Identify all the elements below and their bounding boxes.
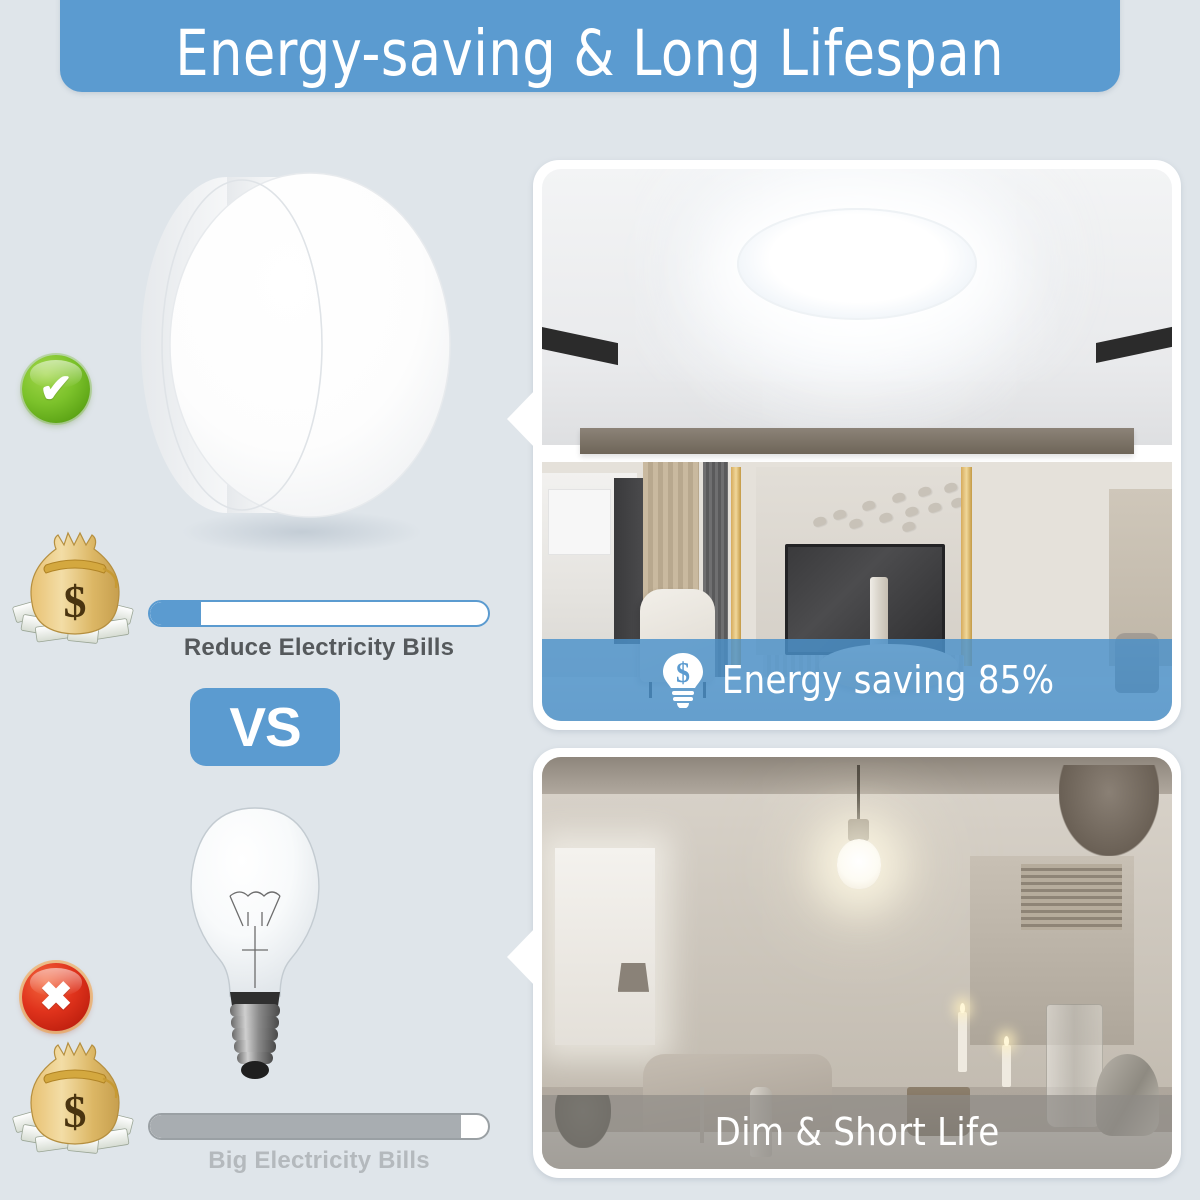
window xyxy=(555,848,656,1046)
comparison-left-column: ✔ xyxy=(0,110,520,1200)
bright-living-room-photo: $ Energy saving 85% xyxy=(542,169,1172,721)
big-electricity-bills-bar: Big Electricity Bills xyxy=(148,1113,490,1175)
doorway xyxy=(614,478,642,644)
incandescent-bulb-image xyxy=(168,800,343,1090)
check-circle-icon: ✔ xyxy=(22,355,90,423)
candle xyxy=(958,1012,967,1072)
progress-label: Reduce Electricity Bills xyxy=(148,634,490,662)
page-title: Energy-saving & Long Lifespan xyxy=(176,22,1005,86)
progress-label: Big Electricity Bills xyxy=(148,1147,490,1175)
cross-glyph: ✖ xyxy=(22,963,90,1031)
check-glyph: ✔ xyxy=(22,355,90,423)
hanging-pans xyxy=(1059,765,1160,856)
butterfly-wall-art xyxy=(807,478,971,544)
reduce-electricity-bills-bar: Reduce Electricity Bills xyxy=(148,600,490,662)
kitchen-cabinet xyxy=(548,489,611,555)
svg-text:$: $ xyxy=(676,658,690,689)
gold-trim-right xyxy=(961,467,972,666)
progress-fill xyxy=(150,1115,461,1138)
caption-bar-dim-short-life: Dim & Short Life xyxy=(542,1095,1172,1169)
header-banner: Energy-saving & Long Lifespan xyxy=(60,0,1120,92)
photo-card-dim-short-life: Dim & Short Life xyxy=(533,748,1181,1178)
svg-text:$: $ xyxy=(64,1086,87,1137)
floor-lamp-shade xyxy=(618,963,650,992)
stacked-books xyxy=(1021,864,1122,930)
bulb-socket xyxy=(848,819,869,841)
hanging-incandescent-bulb xyxy=(837,839,881,889)
caption-text: Energy saving 85% xyxy=(722,658,1055,702)
led-ceiling-light-image xyxy=(122,140,462,560)
gold-trim-left xyxy=(731,467,741,666)
dim-kitchen-photo: Dim & Short Life xyxy=(542,757,1172,1169)
pendant-cord xyxy=(857,765,860,823)
money-bag-icon: $ xyxy=(12,525,140,645)
vs-label: VS xyxy=(229,700,300,755)
vs-badge: VS xyxy=(190,688,340,766)
candle xyxy=(1002,1045,1011,1087)
progress-track xyxy=(148,600,490,627)
progress-track xyxy=(148,1113,490,1140)
cross-circle-icon: ✖ xyxy=(22,963,90,1031)
money-bag-icon: $ xyxy=(12,1035,140,1155)
caption-bar-energy-saving: $ Energy saving 85% xyxy=(542,639,1172,721)
caption-text: Dim & Short Life xyxy=(715,1110,1000,1154)
bulb-dollar-icon: $ xyxy=(660,652,706,708)
progress-fill xyxy=(150,602,201,625)
svg-text:$: $ xyxy=(64,576,87,627)
photo-card-energy-saving: $ Energy saving 85% xyxy=(533,160,1181,730)
wood-beam xyxy=(580,428,1134,454)
glowing-ceiling-light xyxy=(737,208,977,320)
